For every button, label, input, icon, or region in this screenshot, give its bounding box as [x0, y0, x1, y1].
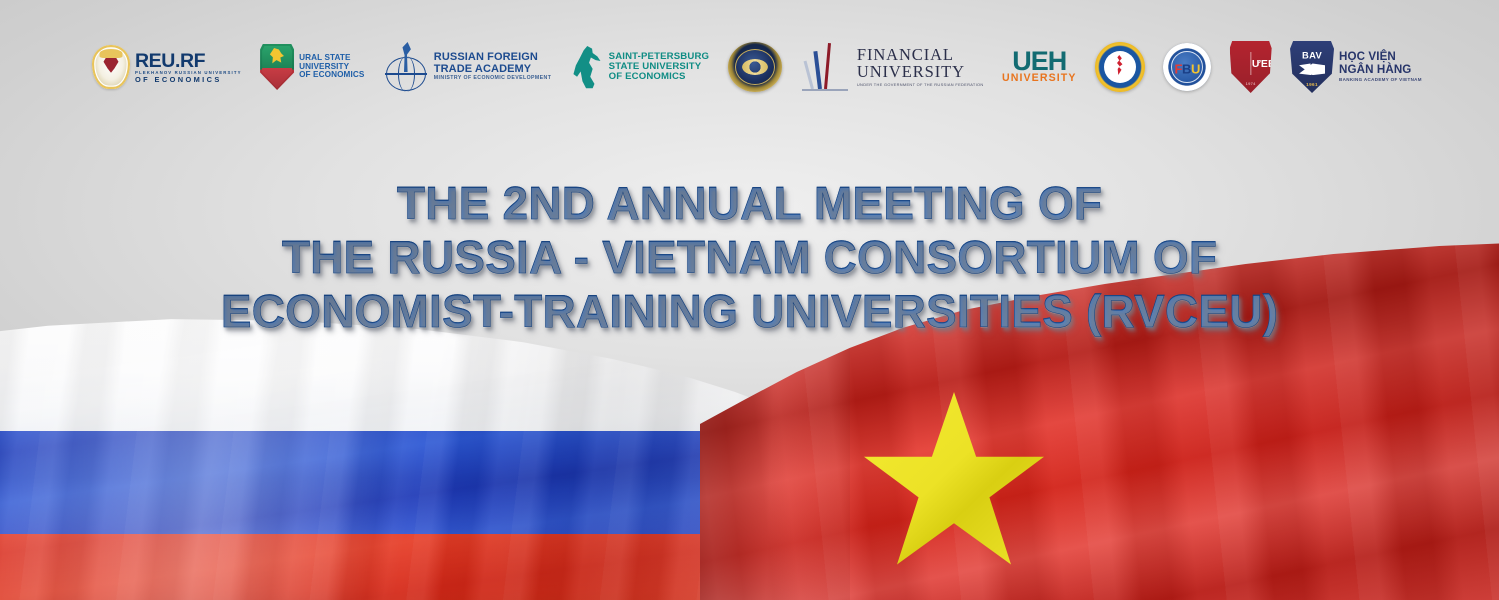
bav-book-icon [1299, 63, 1325, 75]
logo-fbu-seal[interactable]: FBU [1163, 36, 1211, 98]
reu-rf-crest-icon [92, 45, 130, 89]
bav-year: 1961 [1306, 82, 1318, 87]
rgeu-seal-icon [728, 42, 782, 92]
spb-line-3: OF ECONOMICS [609, 72, 709, 82]
logo-neu-seal[interactable] [1095, 36, 1145, 98]
bav-shield-icon: BAV 1961 [1290, 41, 1334, 93]
ueh-wordmark: UEH [1012, 50, 1066, 73]
logo-spb-state-university[interactable]: SAINT-PETERSBURG STATE UNIVERSITY OF ECO… [570, 36, 709, 98]
banner-title-line-1: THE 2ND ANNUAL MEETING OF [0, 176, 1499, 230]
logo-rgeu-seal[interactable] [728, 36, 782, 98]
partner-logo-row: REU.RF PLEKHANOV RUSSIAN UNIVERSITY OF E… [92, 34, 1422, 100]
logo-ueb-shield[interactable]: ƯEB 1974 [1230, 36, 1272, 98]
banner-title: THE 2ND ANNUAL MEETING OF THE RUSSIA - V… [0, 176, 1499, 338]
logo-financial-university[interactable]: FINANCIAL UNIVERSITY UNDER THE GOVERNMEN… [800, 36, 984, 98]
banner-title-line-3: ECONOMIST-TRAINING UNIVERSITIES (RVCEU) [0, 284, 1499, 338]
bav-subtitle: BANKING ACADEMY OF VIETNAM [1339, 78, 1422, 83]
ueb-shield-icon: ƯEB 1974 [1230, 41, 1272, 93]
financial-university-sail-icon [800, 41, 852, 93]
rfta-line-1: RUSSIAN FOREIGN [434, 52, 551, 63]
logo-ural-state[interactable]: URAL STATE UNIVERSITY OF ECONOMICS [260, 36, 364, 98]
ural-state-line-3: OF ECONOMICS [299, 71, 364, 80]
rfta-torch-globe-icon [383, 42, 429, 92]
logo-russian-foreign-trade-academy[interactable]: RUSSIAN FOREIGN TRADE ACADEMY MINISTRY O… [383, 36, 551, 98]
fbu-seal-icon: FBU [1163, 43, 1211, 91]
logo-bav-banking-academy[interactable]: BAV 1961 HỌC VIỆN NGÂN HÀNG BANKING ACAD… [1290, 36, 1422, 98]
reu-rf-subtitle-2: OF ECONOMICS [135, 76, 242, 84]
neu-seal-icon [1095, 42, 1145, 92]
financial-university-line-2: UNIVERSITY [857, 64, 984, 81]
vietnam-flag-star-icon [860, 392, 1048, 572]
ueb-year: 1974 [1246, 81, 1256, 86]
fbu-letter-b: B [1182, 61, 1191, 76]
bav-line-2: NGÂN HÀNG [1339, 64, 1422, 77]
financial-university-subtitle: UNDER THE GOVERNMENT OF THE RUSSIAN FEDE… [857, 83, 984, 87]
logo-ueh-university[interactable]: UEH UNIVERSITY [1002, 36, 1077, 98]
logo-reu-rf[interactable]: REU.RF PLEKHANOV RUSSIAN UNIVERSITY OF E… [92, 36, 242, 98]
banner-title-line-2: THE RUSSIA - VIETNAM CONSORTIUM OF [0, 230, 1499, 284]
rfta-line-2: TRADE ACADEMY [434, 64, 551, 75]
ural-state-crest-icon [260, 44, 294, 90]
conference-banner: REU.RF PLEKHANOV RUSSIAN UNIVERSITY OF E… [0, 0, 1499, 600]
bav-wordmark: BAV [1302, 49, 1322, 60]
fbu-letter-f: F [1175, 61, 1183, 76]
reu-rf-wordmark: REU.RF [135, 51, 242, 71]
fbu-letter-u: U [1191, 61, 1200, 76]
rfta-subtitle: MINISTRY OF ECONOMIC DEVELOPMENT [434, 76, 551, 81]
ueh-subtitle: UNIVERSITY [1002, 73, 1077, 84]
spb-statue-icon [570, 42, 604, 92]
ueb-wordmark: ƯEB [1252, 58, 1276, 70]
